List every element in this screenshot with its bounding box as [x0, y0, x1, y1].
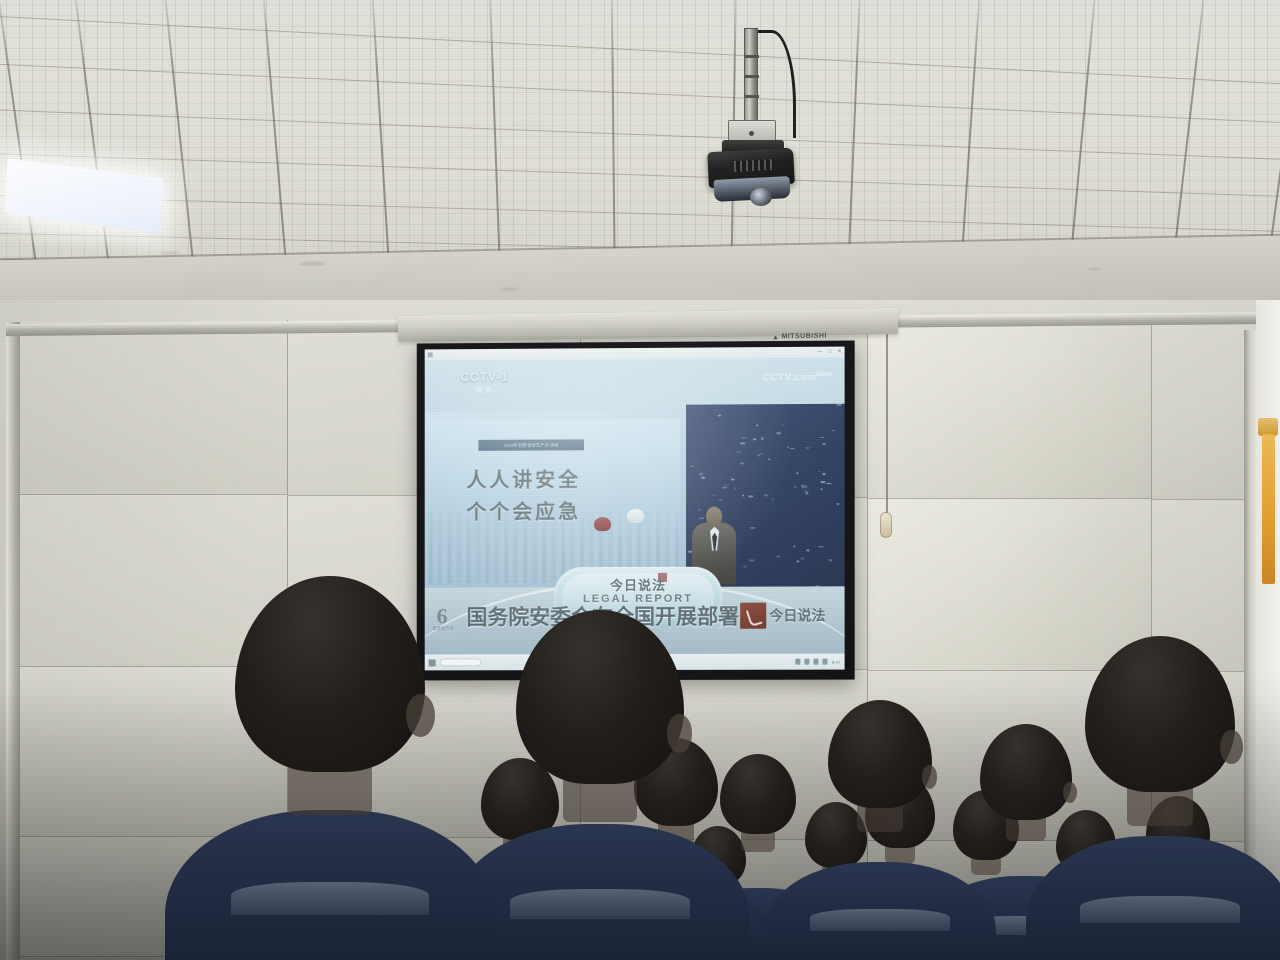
video-wall-light	[806, 549, 809, 551]
wall-scuff-mark	[160, 252, 180, 254]
video-wall-light	[832, 429, 835, 430]
ceiling-mounted-projector	[700, 28, 830, 178]
video-wall-light	[796, 561, 799, 562]
audience-member	[980, 724, 1072, 820]
minimize-icon[interactable]: —	[817, 350, 822, 355]
video-wall-light	[750, 527, 755, 528]
audience-member-ear	[667, 714, 692, 752]
video-wall-light	[713, 495, 716, 497]
audience-member-collar	[510, 889, 690, 919]
video-wall-light	[822, 473, 825, 475]
cctv1-logo-subtext: 综合	[460, 385, 508, 395]
video-wall-light	[761, 453, 764, 455]
maximize-icon[interactable]: □	[828, 350, 831, 355]
wall-panel	[14, 320, 288, 495]
mitsubishi-brand-text: MITSUBISHI	[781, 333, 826, 341]
poster-red-helmet-icon	[594, 517, 611, 531]
cctv1-logo-text: CCTV-1	[460, 370, 508, 384]
cctv-com-watermark-text: CCTV.com	[763, 372, 817, 383]
video-wall-light	[782, 424, 784, 425]
video-wall-light	[764, 494, 769, 497]
video-wall-light	[827, 484, 832, 485]
video-wall-light	[788, 446, 790, 449]
audience-member	[720, 754, 796, 834]
video-wall-light	[741, 438, 746, 439]
ceiling	[0, 0, 1280, 262]
wall-panel	[868, 499, 1152, 671]
audience-member-collar	[231, 882, 429, 915]
program-badge: 今日说法	[740, 600, 832, 630]
close-icon[interactable]: ✕	[837, 350, 841, 355]
wall-scuff-mark	[300, 262, 326, 265]
poster-white-helmet-icon	[627, 509, 644, 523]
video-wall-light	[740, 443, 745, 444]
video-wall-light	[699, 517, 704, 518]
video-wall-light	[836, 503, 839, 505]
video-wall-light	[768, 458, 770, 461]
window-controls[interactable]: — □ ✕	[817, 350, 841, 355]
audience-member-collar	[1080, 896, 1241, 923]
video-wall-light	[801, 557, 805, 559]
video-wall-light	[823, 442, 826, 445]
program-badge-text: 今日说法	[769, 605, 825, 625]
video-wall-light	[698, 509, 701, 511]
wall-scuff-mark	[500, 288, 518, 290]
video-wall-light	[719, 499, 724, 501]
poster-slogan-line-1: 人人讲安全	[466, 463, 581, 493]
cctv1-channel-bug: CCTV-1 综合	[460, 370, 508, 395]
video-wall-light	[776, 555, 780, 557]
video-wall-light	[791, 448, 794, 449]
app-icon	[428, 352, 433, 357]
video-wall-light	[742, 494, 744, 496]
system-tray[interactable]: 8:07	[796, 659, 841, 665]
projector-vent	[734, 159, 775, 172]
video-wall-light	[818, 471, 820, 472]
video-wall-light	[753, 438, 756, 440]
taskbar-search-input[interactable]	[440, 658, 482, 666]
ceiling-tile-texture	[0, 0, 1280, 262]
cctv-com-watermark: CCTV.com网络电视	[763, 372, 833, 384]
video-wall-light	[818, 547, 823, 548]
news-anchor-head	[706, 507, 722, 526]
video-wall-light	[743, 566, 748, 568]
video-wall-light	[731, 478, 735, 480]
orange-wall-fixture	[1262, 434, 1275, 584]
video-wall-light	[821, 481, 825, 483]
program-logo-chinese: 今日说法	[554, 575, 722, 595]
video-wall-light	[748, 496, 753, 498]
audience-seating	[0, 670, 1280, 960]
wall-panel	[868, 323, 1152, 499]
video-wall-light	[757, 454, 760, 456]
video-wall-light	[734, 488, 736, 490]
video-wall-light	[821, 488, 823, 490]
screen-pull-cord[interactable]	[886, 330, 888, 515]
safety-month-logo-caption: 安全生产月	[433, 625, 454, 631]
video-wall-light	[736, 452, 741, 453]
cctv-com-watermark-sup: 网络电视	[816, 372, 832, 377]
video-wall-light	[756, 424, 758, 426]
audience-member-ear	[406, 694, 435, 737]
tray-network-icon[interactable]	[805, 659, 810, 665]
start-button-icon[interactable]	[429, 659, 436, 666]
mitsubishi-brand-logo: ▲MITSUBISHI	[772, 333, 827, 341]
audience-member-ear	[1063, 782, 1077, 803]
classroom-scene: ▲MITSUBISHI — □ ✕	[0, 0, 1280, 960]
video-wall-light	[796, 472, 798, 474]
video-wall-light	[715, 410, 717, 411]
audience-member-collar	[810, 909, 949, 931]
projector-pole-mount	[744, 28, 758, 124]
poster-banner: 2023年全国“安全生产月”活动	[478, 439, 584, 451]
video-wall-light	[820, 437, 825, 439]
video-wall-light	[806, 493, 809, 495]
taskbar-clock[interactable]: 8:07	[832, 659, 841, 664]
screen-pull-cord-toggle[interactable]	[880, 512, 892, 538]
video-wall-light	[794, 486, 797, 488]
audience-member-ear	[1220, 730, 1243, 764]
video-wall-light	[722, 486, 727, 488]
video-wall-light	[740, 463, 744, 465]
video-wall-light	[837, 404, 842, 405]
wall-scuff-mark	[1088, 268, 1102, 270]
video-wall-light	[690, 465, 694, 466]
video-wall-light	[702, 476, 705, 478]
program-badge-icon	[740, 603, 766, 629]
video-wall-light	[762, 437, 765, 438]
tray-ime-icon[interactable]	[823, 659, 828, 665]
video-wall-light	[793, 546, 795, 548]
video-wall-light	[806, 447, 810, 449]
video-wall-light	[700, 473, 704, 476]
video-wall-light	[749, 559, 754, 561]
audience-member-ear	[922, 765, 938, 789]
audience-member	[828, 700, 932, 808]
video-content[interactable]: 2023年全国“安全生产月”活动 人人讲安全 个个会应急	[425, 358, 845, 655]
video-wall-light	[829, 559, 833, 561]
tray-chevron-icon[interactable]	[796, 659, 801, 665]
video-wall-light	[772, 499, 775, 501]
poster-slogan-line-2: 个个会应急	[466, 495, 581, 524]
tray-volume-icon[interactable]	[814, 659, 819, 665]
video-wall-light	[718, 414, 721, 416]
video-wall-light	[777, 433, 782, 435]
